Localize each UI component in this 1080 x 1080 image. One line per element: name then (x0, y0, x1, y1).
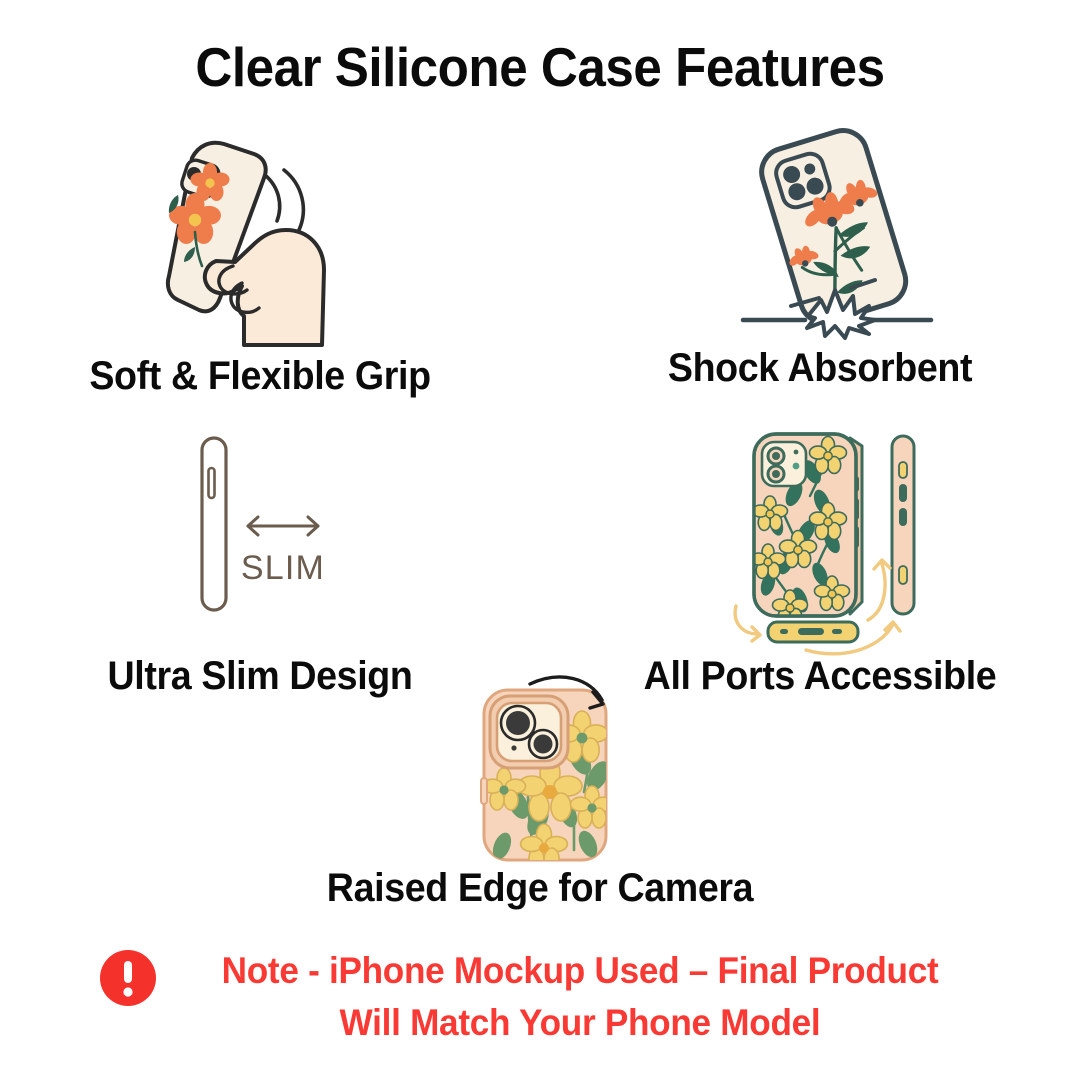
phone-case-ports-views-icon (710, 424, 950, 659)
exclamation-circle-icon (99, 949, 157, 1007)
feature-label-shock-absorbent: Shock Absorbent (576, 345, 1065, 391)
note-text: Note - iPhone Mockup Used – Final Produc… (195, 945, 965, 1049)
feature-label-ultra-slim-design: Ultra Slim Design (16, 653, 505, 699)
phone-drop-impact-icon (735, 124, 935, 339)
phone-camera-raised-edge-icon (462, 668, 642, 853)
hand-flexing-phone-case-icon (132, 120, 362, 345)
phone-side-profile-slim-icon: SLIM (196, 432, 346, 617)
feature-label-raised-edge-for-camera: Raised Edge for Camera (173, 865, 906, 911)
feature-label-all-ports-accessible: All Ports Accessible (576, 653, 1065, 699)
note-row: Note - iPhone Mockup Used – Final Produc… (0, 945, 1080, 1049)
slim-callout-text: SLIM (241, 549, 325, 587)
feature-label-soft-flexible-grip: Soft & Flexible Grip (16, 353, 505, 399)
feature-infographic: Clear Silicone Case Features (0, 0, 1080, 1080)
page-title: Clear Silicone Case Features (38, 34, 1042, 100)
